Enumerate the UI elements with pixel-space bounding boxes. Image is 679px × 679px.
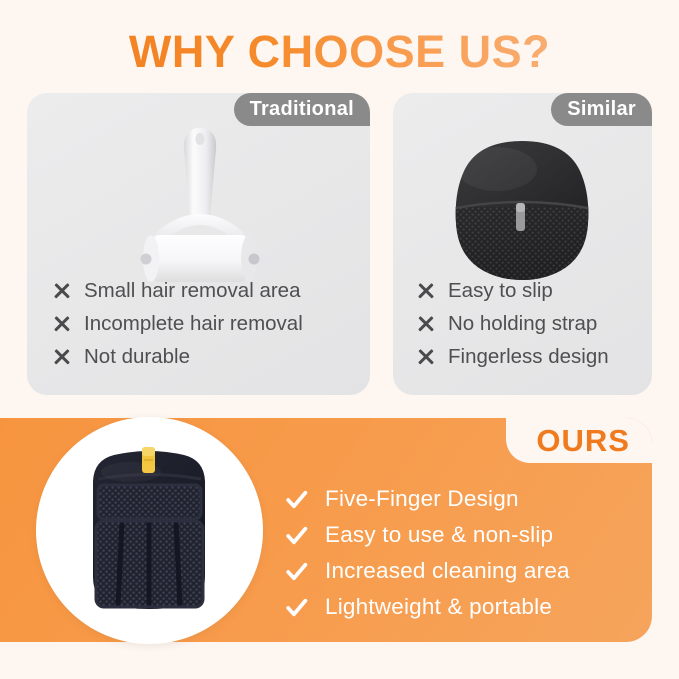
cons-list-traditional: Small hair removal area Incomplete hair … (53, 274, 303, 373)
con-item: Easy to slip (417, 274, 609, 307)
cross-icon (53, 315, 71, 333)
page-title: WHY CHOOSE US? (0, 26, 679, 78)
mesh-bag-illustration (393, 123, 652, 288)
con-label: Small hair removal area (84, 279, 300, 303)
pro-item: Lightweight & portable (284, 590, 570, 624)
check-icon (284, 595, 309, 620)
infographic-root: WHY CHOOSE US? (0, 0, 679, 679)
badge-traditional: Traditional (234, 93, 370, 126)
lint-roller-illustration (27, 123, 370, 288)
cross-icon (417, 315, 435, 333)
hero-product-circle (36, 417, 263, 644)
check-icon (284, 487, 309, 512)
con-label: Not durable (84, 345, 190, 369)
lint-roller-icon (27, 123, 370, 288)
check-icon (284, 523, 309, 548)
cons-list-similar: Easy to slip No holding strap Fingerless… (417, 274, 609, 373)
mesh-bag-icon (393, 123, 652, 288)
comparison-card-traditional: Traditional Small hair removal area Inco… (27, 93, 370, 395)
con-item: No holding strap (417, 307, 609, 340)
con-item: Small hair removal area (53, 274, 303, 307)
cross-icon (417, 282, 435, 300)
pro-label: Easy to use & non-slip (325, 522, 553, 548)
con-label: Fingerless design (448, 345, 609, 369)
cross-icon (53, 348, 71, 366)
con-item: Not durable (53, 340, 303, 373)
pro-item: Increased cleaning area (284, 554, 570, 588)
badge-similar: Similar (551, 93, 652, 126)
pro-label: Five-Finger Design (325, 486, 519, 512)
check-icon (284, 559, 309, 584)
con-item: Fingerless design (417, 340, 609, 373)
badge-ours: OURS (506, 418, 652, 463)
pros-list-ours: Five-Finger Design Easy to use & non-sli… (284, 482, 570, 626)
con-label: Easy to slip (448, 279, 553, 303)
pro-label: Lightweight & portable (325, 594, 552, 620)
pro-item: Easy to use & non-slip (284, 518, 570, 552)
cross-icon (417, 348, 435, 366)
pro-item: Five-Finger Design (284, 482, 570, 516)
pro-label: Increased cleaning area (325, 558, 570, 584)
con-label: No holding strap (448, 312, 597, 336)
comparison-card-similar: Similar Easy to slip No holding strap Fi… (393, 93, 652, 395)
con-item: Incomplete hair removal (53, 307, 303, 340)
cross-icon (53, 282, 71, 300)
con-label: Incomplete hair removal (84, 312, 303, 336)
five-finger-mesh-glove-icon (36, 417, 263, 644)
